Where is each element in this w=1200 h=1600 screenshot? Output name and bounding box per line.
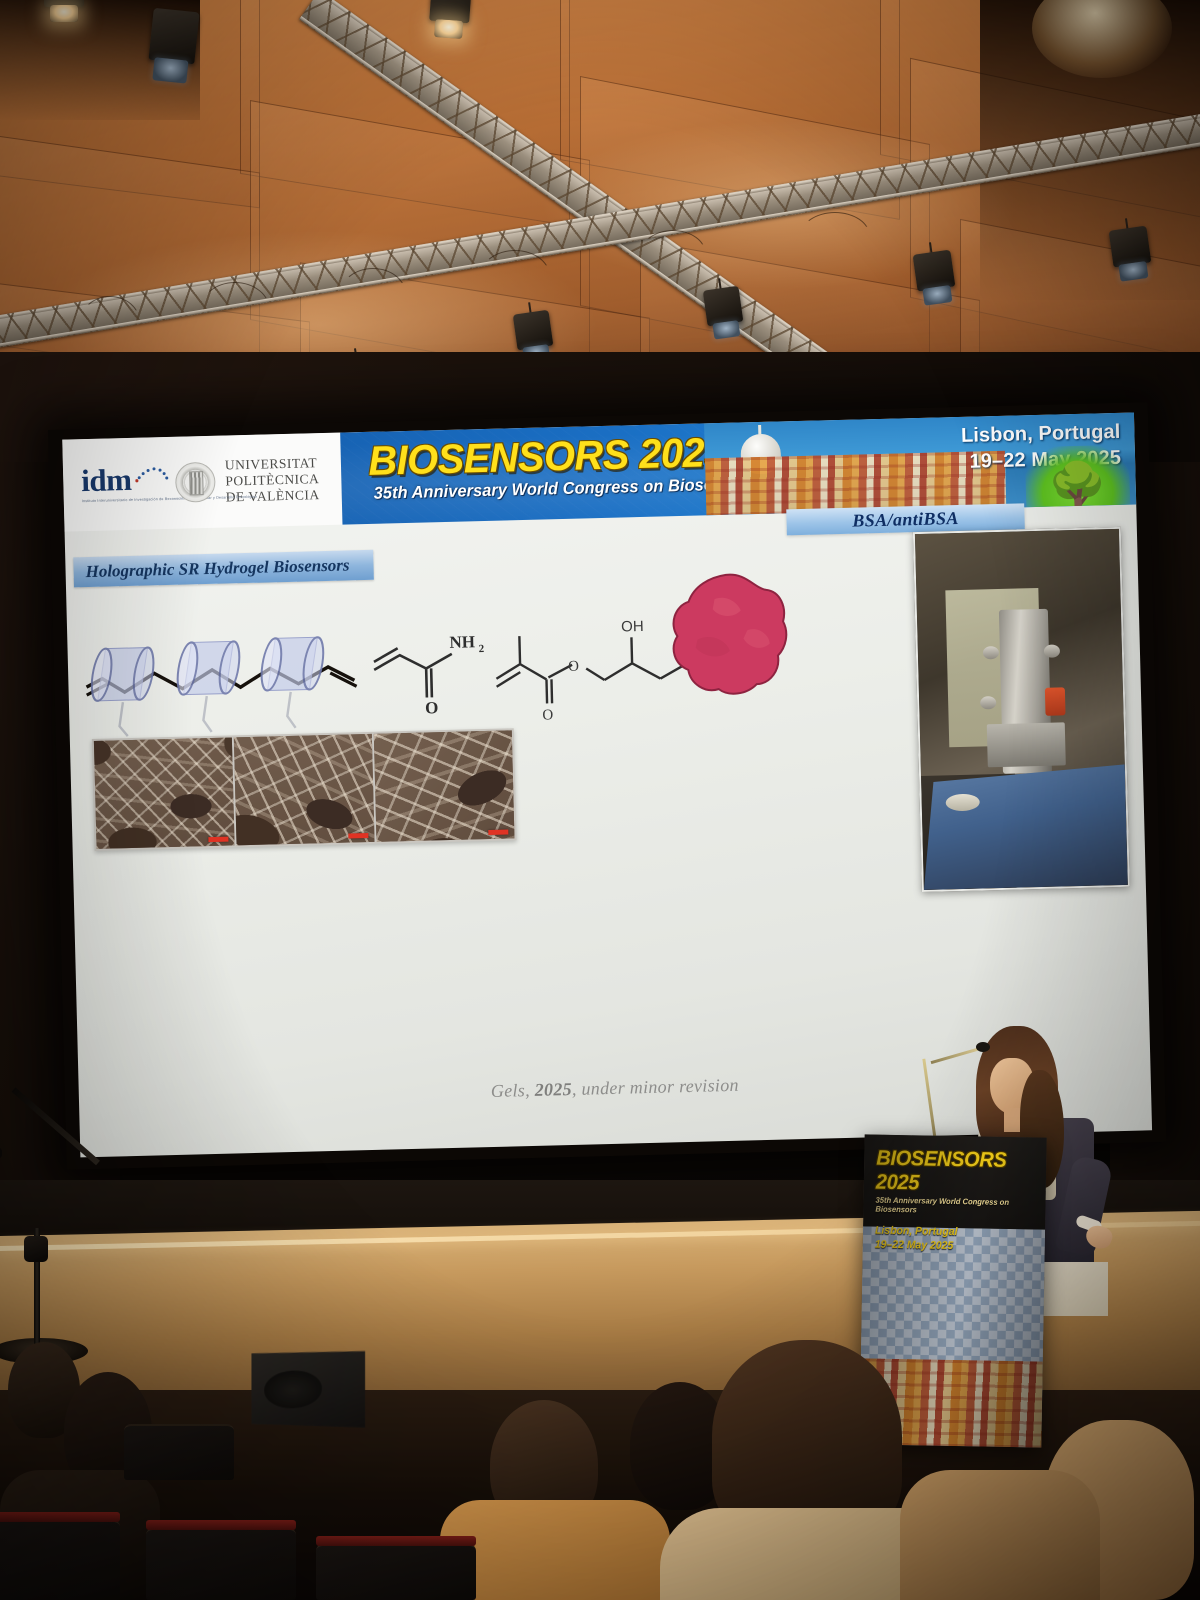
auditorium-seat-frame	[0, 1512, 120, 1522]
svg-text:OH: OH	[621, 618, 644, 636]
stage-light-fixture	[703, 286, 746, 341]
citation-journal: Gels	[491, 1080, 526, 1101]
tree-icon: 🌳	[1047, 464, 1108, 513]
conference-photo-scene: idm Instituto Interuniversitario de Inve…	[0, 0, 1200, 1600]
sem-micrograph	[234, 734, 375, 845]
stage-light-fixture	[146, 8, 199, 84]
rheometer-photo	[913, 527, 1130, 892]
lectern-branding: BIOSENSORS 2025 35th Anniversary World C…	[863, 1134, 1047, 1229]
lectern-subtitle: 35th Anniversary World Congress on Biose…	[875, 1196, 1029, 1217]
sem-micrograph-strip	[92, 728, 517, 851]
stage-monitor-speaker	[251, 1346, 365, 1428]
scale-bar	[488, 829, 508, 835]
idm-logo-tagline: Instituto Interuniversitario de Investig…	[82, 497, 166, 505]
auditorium-seat	[316, 1544, 476, 1600]
auditorium-seat	[0, 1520, 120, 1600]
auditorium-seat	[124, 1424, 234, 1480]
sem-micrograph	[94, 737, 235, 848]
stage-light-fixture	[44, 0, 84, 22]
svg-text:2: 2	[479, 643, 485, 655]
lectern-location: Lisbon, Portugal 19–22 May 2025	[875, 1225, 1029, 1255]
instrument-plate	[987, 723, 1066, 768]
cyclodextrin-polymer-structure	[77, 608, 380, 746]
auditorium-seat-frame	[146, 1520, 296, 1530]
stage-light-fixture	[428, 0, 472, 39]
slide-citation: Gels, 2025, under minor revision	[491, 1075, 739, 1102]
svg-text:NH: NH	[449, 632, 475, 652]
auditorium-seat-frame	[316, 1536, 476, 1546]
scale-bar	[348, 833, 368, 839]
audience-member-shoulders	[900, 1470, 1100, 1600]
mic-stand-clutch	[24, 1236, 48, 1262]
slide-title: Holographic SR Hydrogel Biosensors	[73, 550, 374, 588]
lectern-title: BIOSENSORS 2025	[876, 1147, 1031, 1198]
idm-logo: idm Instituto Interuniversitario de Inve…	[81, 463, 166, 505]
svg-text:O: O	[425, 698, 439, 717]
institution-logos: idm Instituto Interuniversitario de Inve…	[62, 433, 342, 532]
lectern-location-line-2: 19–22 May 2025	[875, 1238, 1029, 1254]
bsa-protein-blob	[662, 567, 796, 710]
location-line-1: Lisbon, Portugal	[961, 421, 1121, 448]
scale-bar	[208, 837, 228, 843]
auditorium-seat	[146, 1528, 296, 1600]
stage-light-fixture	[1109, 226, 1154, 283]
citation-year: 2025	[534, 1079, 572, 1100]
podium-microphone	[976, 1042, 990, 1052]
stage-light-fixture	[913, 250, 958, 307]
citation-status: , under minor revision	[572, 1075, 739, 1099]
idm-dots-icon	[135, 465, 169, 483]
svg-text:O: O	[542, 707, 553, 723]
sem-micrograph	[374, 730, 515, 841]
tree-logo-badge: 🌳	[1025, 445, 1131, 516]
instrument-sample	[1045, 687, 1066, 715]
lisbon-cityscape-image: Lisbon, Portugal 19–22 May 2025 🌳	[704, 413, 1136, 516]
svg-text:O: O	[568, 659, 579, 675]
